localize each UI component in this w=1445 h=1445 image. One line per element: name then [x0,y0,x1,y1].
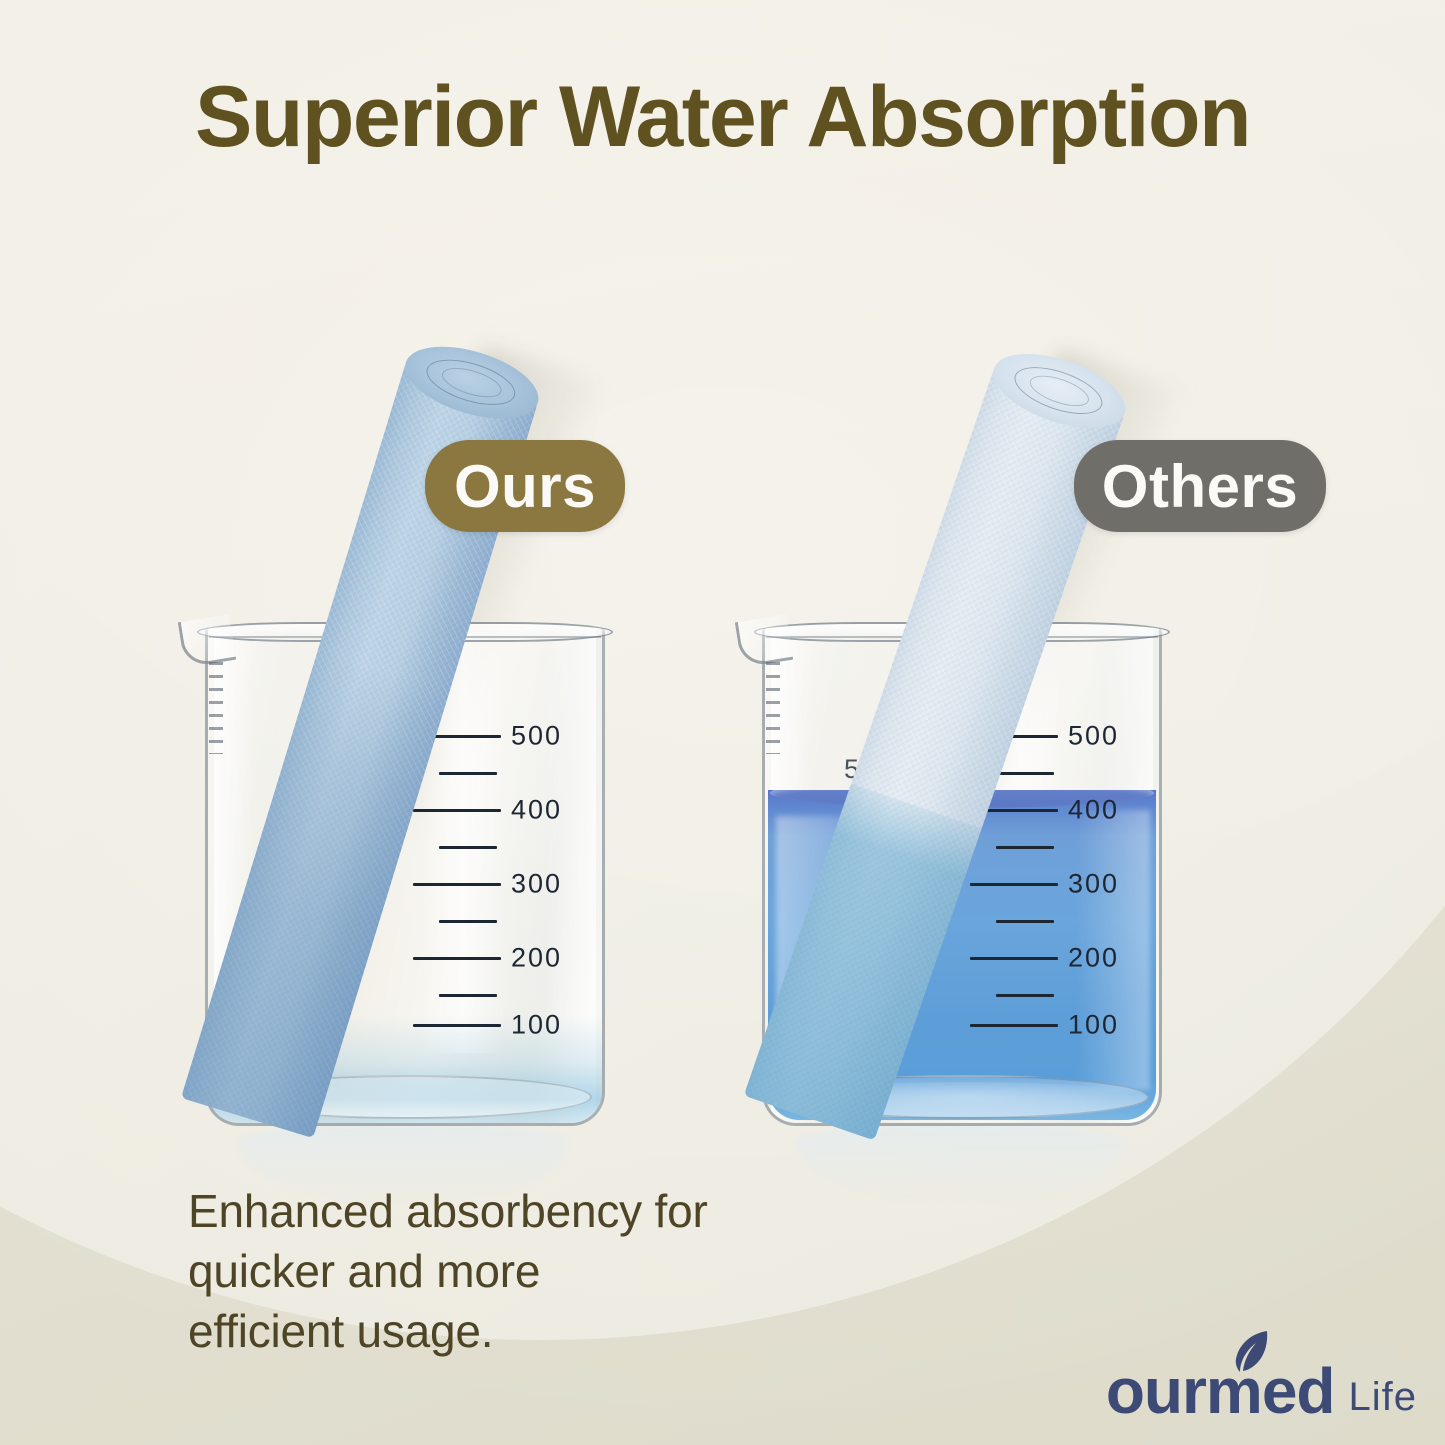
logo-suffix: Life [1349,1377,1418,1423]
tick-label-300: 300 [511,869,562,900]
beaker-spout-ticks [766,662,780,754]
beaker-reflection-others [796,1124,1126,1206]
tick-150 [439,994,497,997]
tick-250 [996,920,1054,923]
tick-400 [413,809,501,812]
tick-label-200: 200 [511,943,562,974]
tick-200 [970,957,1058,960]
logo-mark: ourmed [1106,1359,1335,1423]
panel-ours: 500 ml 500 400 300 200 100 [0,0,722,1445]
infographic-canvas: Superior Water Absorption 500 ml 500 [0,0,1445,1445]
tick-100 [413,1024,501,1027]
beaker-spout-ticks [209,662,223,754]
beaker-spout [735,614,794,668]
tick-350 [439,846,497,849]
tick-300 [413,883,501,886]
panel-others: 500 ml 500 400 300 200 100 [722,0,1444,1445]
tick-label-400: 400 [511,795,562,826]
badge-others[interactable]: Others [1074,440,1326,532]
tick-250 [439,920,497,923]
beaker-spout [178,614,237,668]
tick-label-100: 100 [511,1010,562,1041]
tick-label-200: 200 [1068,943,1119,974]
tick-450 [439,772,497,775]
tick-450 [996,772,1054,775]
tick-350 [996,846,1054,849]
tick-200 [413,957,501,960]
logo-wordmark: ourmed [1106,1359,1335,1423]
badge-ours-label: Ours [454,452,596,521]
leaf-icon [1225,1329,1271,1375]
tick-label-300: 300 [1068,869,1119,900]
tick-100 [970,1024,1058,1027]
tick-label-400: 400 [1068,795,1119,826]
caption-ours: Enhanced absorbency for quicker and more… [188,1182,708,1361]
brand-logo[interactable]: ourmed Life [1106,1359,1417,1423]
tick-label-500: 500 [1068,721,1119,752]
tick-300 [970,883,1058,886]
badge-others-label: Others [1102,452,1298,521]
tick-label-100: 100 [1068,1010,1119,1041]
tick-150 [996,994,1054,997]
tick-label-500: 500 [511,721,562,752]
badge-ours[interactable]: Ours [425,440,625,532]
